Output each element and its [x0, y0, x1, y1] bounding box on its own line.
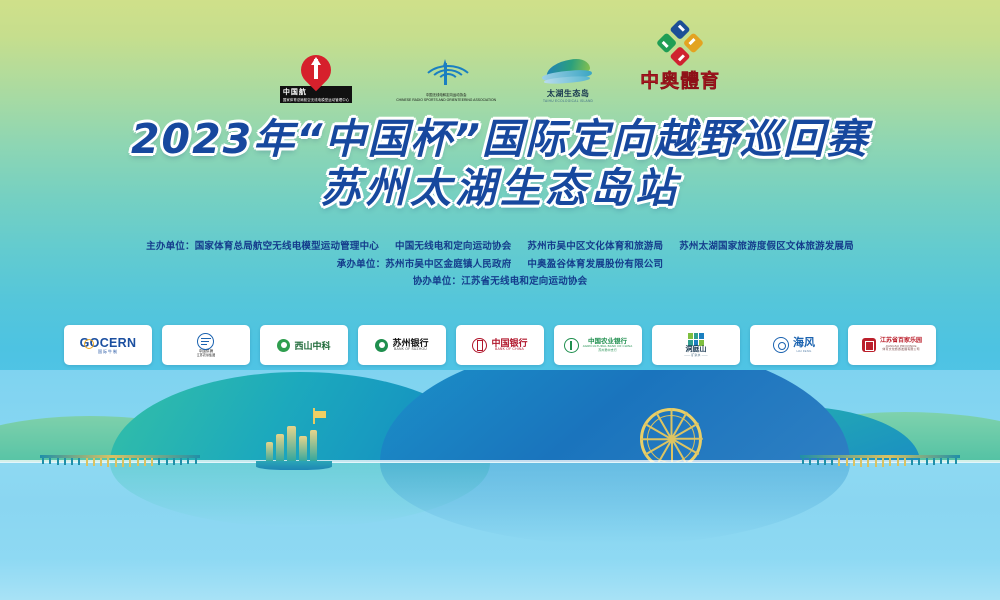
bridge-pier	[824, 458, 826, 465]
title-line-1: 2023年“中国杯”国际定向越野巡回赛	[0, 118, 1000, 161]
bridge-pier	[144, 458, 146, 466]
bridge-pier	[889, 458, 891, 466]
bridge-pier	[166, 458, 168, 465]
lake-landscape-illustration	[0, 370, 1000, 600]
hill-main-blue	[380, 370, 850, 462]
logo-caption-cn: 国家体育总局航空无线电模型运动管理中心	[283, 97, 349, 102]
bridge-pier	[187, 458, 189, 464]
bridge-pier	[809, 458, 811, 465]
bridge-pier	[122, 458, 124, 467]
bridge-pier	[195, 458, 197, 464]
organizer-entry: 中奥盈谷体育发展股份有限公司	[527, 259, 663, 270]
bridge-pier	[853, 458, 855, 466]
organizer-logo-row: 中国航 国家体育总局航空无线电模型运动管理中心 中国无线电和定向运动协会 CHI…	[0, 42, 1000, 104]
green-dot-icon	[277, 339, 290, 352]
bridge-pier	[64, 458, 66, 465]
sponsor-blue-circle: 中国供销 江苏农垦集团	[162, 325, 250, 365]
bridge-pier	[955, 458, 957, 464]
sponsor-name: 海风	[793, 337, 815, 350]
bridge-pier	[71, 458, 73, 465]
sponsor-jiangsu-baijia: 江苏省百家乐园 JIANGSU PROVINCE 体育文化旅游发展有限公司	[848, 325, 936, 365]
bridge-pier	[129, 458, 131, 467]
sponsor-bank-of-suzhou: 苏州银行 BANK OF SUZHOU	[358, 325, 446, 365]
organizer-entry: 苏州市吴中区文化体育和旅游局	[527, 241, 663, 252]
haifeng-emblem-icon	[773, 337, 789, 353]
sponsor-name: 西山中科	[294, 339, 330, 352]
sponsor-name: GOCERN	[80, 336, 137, 350]
organizer-role: 协办单位：	[413, 276, 462, 287]
sponsor-subtitle: BANK OF CHINA	[495, 348, 524, 352]
four-color-diamond-icon	[663, 26, 697, 60]
bridge-pier	[882, 458, 884, 467]
bridge-pier	[897, 458, 899, 466]
bridge-pier	[802, 458, 804, 464]
sponsor-gocern: GOCERN 国际牛制	[64, 325, 152, 365]
event-poster: 中国航 国家体育总局航空无线电模型运动管理中心 中国无线电和定向运动协会 CHI…	[0, 0, 1000, 600]
organizer-entry: 苏州太湖国家旅游度假区文体旅游发展局	[679, 241, 854, 252]
sponsor-logo-strip: GOCERN 国际牛制 中国供销 江苏农垦集团 西山中科 苏州银行 BANK O…	[0, 325, 1000, 365]
bridge-pier	[875, 458, 877, 467]
red-pin-icon	[301, 55, 331, 89]
bridge-pier	[86, 458, 88, 466]
bridge-pier	[904, 458, 906, 466]
bridge-pier	[860, 458, 862, 467]
boat-hull	[256, 461, 332, 470]
bridge-pier	[831, 458, 833, 465]
logo-zhongao-sports: 中奥體育	[640, 53, 720, 93]
bridge-pier	[947, 458, 949, 464]
bridge-pier	[817, 458, 819, 465]
logo-china-aero-radio-model: 中国航 国家体育总局航空无线电模型运动管理中心	[280, 43, 352, 103]
mountain-blocks-icon	[688, 333, 704, 346]
bridge-pier	[107, 458, 109, 467]
abc-bank-icon	[564, 338, 579, 353]
bridge-pier	[100, 458, 102, 466]
bridge-pier	[57, 458, 59, 465]
sponsor-xishan-zhongke: 西山中科	[260, 325, 348, 365]
organizer-entry: 苏州市吴中区金庭镇人民政府	[385, 259, 511, 270]
sponsor-dongtingshan: 洞庭山 —— 矿泉水 ——	[652, 325, 740, 365]
sponsor-subtitle-2: 江苏农垦集团	[197, 354, 216, 357]
organizer-role: 承办单位：	[337, 259, 386, 270]
bridge-pier	[158, 458, 160, 465]
sponsor-abc-bank: 中国农业银行 AGRICULTURAL BANK OF CHINA 苏州吴中支行	[554, 325, 642, 365]
sponsor-subtitle: BANK OF SUZHOU	[394, 348, 427, 352]
bank-of-china-icon	[472, 338, 487, 353]
organizer-entry: 江苏省无线电和定向运动协会	[461, 276, 587, 287]
sponsor-subtitle: —— 矿泉水 ——	[684, 354, 708, 357]
bridge-pier	[911, 458, 913, 465]
logo-caption-cn: 太湖生态岛	[547, 88, 590, 99]
bridge-pier	[137, 458, 139, 466]
organizer-role: 主办单位：	[146, 241, 195, 252]
organizer-line-host: 主办单位：国家体育总局航空无线电模型运动管理中心中国无线电和定向运动协会苏州市吴…	[0, 238, 1000, 256]
logo-taihu-ecological-island: 太湖生态岛 TAIHU ECOLOGICAL ISLAND	[540, 43, 596, 103]
sponsor-subtitle-2: 体育文化旅游发展有限公司	[882, 348, 919, 351]
bridge-pier	[93, 458, 95, 466]
sponsor-subtitle: HAI FENG	[797, 350, 812, 353]
organizer-entry: 国家体育总局航空无线电模型运动管理中心	[195, 241, 379, 252]
bridge-pier	[918, 458, 920, 465]
logo-caption-en: TAIHU ECOLOGICAL ISLAND	[543, 99, 593, 103]
jiangsu-seal-icon	[862, 338, 876, 352]
title-line-2: 苏州太湖生态岛站	[0, 167, 1000, 210]
organizer-credits: 主办单位：国家体育总局航空无线电模型运动管理中心中国无线电和定向运动协会苏州市吴…	[0, 238, 1000, 291]
logo-china-radio-orienteering: 中国无线电和定向运动协会 CHINESE RADIO SPORTS AND OR…	[396, 43, 496, 103]
bridge-pier	[926, 458, 928, 465]
logo-caption-cn: 中奥體育	[640, 66, 720, 93]
bridge-pier	[49, 458, 51, 464]
organizer-entry: 中国无线电和定向运动协会	[395, 241, 511, 252]
bridge-pier	[78, 458, 80, 465]
bridge-pier	[42, 458, 44, 464]
poster-title-block: 2023年“中国杯”国际定向越野巡回赛 苏州太湖生态岛站	[0, 118, 1000, 211]
organizer-line-coorganizer: 协办单位：江苏省无线电和定向运动协会	[0, 273, 1000, 291]
bridge-pier	[846, 458, 848, 466]
bridge-right	[800, 455, 960, 465]
signal-tower-icon	[420, 63, 472, 93]
bank-of-suzhou-icon	[375, 339, 388, 352]
bridge-pier	[838, 458, 840, 466]
bridge-pier	[867, 458, 869, 467]
sponsor-subtitle-2: 苏州吴中支行	[598, 349, 617, 352]
bridge-pier	[151, 458, 153, 466]
bridge-pier	[940, 458, 942, 464]
sponsor-haifeng: 海风 HAI FENG	[750, 325, 838, 365]
sponsor-bank-of-china: 中国银行 BANK OF CHINA	[456, 325, 544, 365]
organizer-line-undertaker: 承办单位：苏州市吴中区金庭镇人民政府中奥盈谷体育发展股份有限公司	[0, 256, 1000, 274]
flag-icon	[314, 411, 326, 418]
bridge-pier	[173, 458, 175, 465]
leaf-wave-icon	[540, 58, 596, 88]
sponsor-subtitle: 国际牛制	[98, 350, 118, 355]
bridge-pier	[933, 458, 935, 465]
bridge-left	[40, 455, 200, 465]
bridge-pier	[115, 458, 117, 467]
circle-wave-icon	[197, 333, 214, 350]
bridge-pier	[180, 458, 182, 465]
